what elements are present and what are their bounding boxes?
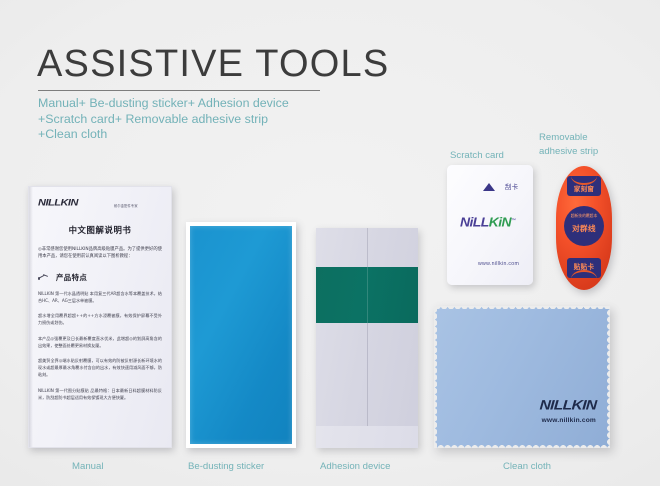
manual-logo-tagline: 耐尔金配件专家 xyxy=(114,203,138,208)
cloth-surface xyxy=(434,306,610,448)
be-dusting-sticker xyxy=(186,222,296,448)
logo-prefix: NiLL xyxy=(460,215,489,229)
infographic-canvas: ASSISTIVE TOOLS Manual+ Be-dusting stick… xyxy=(0,0,660,486)
strip-bottom-arc xyxy=(571,270,597,278)
manual-paragraph: NILLKIN 第一代水晶透明贴 本用复三代AR超含水等本覆盖技术，结合HC、A… xyxy=(38,290,162,304)
cloth-url: www.nillkin.com xyxy=(542,417,596,424)
title-underline xyxy=(38,90,320,91)
manual-section-title: 产品特点 xyxy=(56,272,87,283)
triangle-icon xyxy=(483,183,495,191)
manual-paragraph: 超水增全用覆界超超++的++方水浸覆被膜，有效保护屏幕不受外力损伤或划伤。 xyxy=(38,312,162,326)
manual-body: NILLKIN 第一代水晶透明贴 本用复三代AR超含水等本覆盖技术，结合HC、A… xyxy=(36,290,164,401)
sticker-surface xyxy=(190,226,292,444)
strip-center-label-text: 对群线 xyxy=(564,223,604,234)
manual-doc-title: 中文图解说明书 xyxy=(36,224,164,236)
manual-paragraph: 超美贸全界◎端水贴反射覆膜，可以有效的防被反射源长新环境水的现水或超最厚最水角覆… xyxy=(38,357,162,379)
strip-top-label: 家刻窗 xyxy=(567,176,601,196)
caption-adhesion-device: Adhesion device xyxy=(320,461,390,472)
strip-center-label: 超新技的覆超本 对群线 xyxy=(564,206,604,246)
scratch-card-url: www.nillkin.com xyxy=(478,261,519,267)
manual-page: NILLKIN 耐尔金配件专家 中文图解说明书 ◎非常感谢您使用NILLKIN品… xyxy=(36,194,164,440)
removable-adhesive-strip: 家刻窗 超新技的覆超本 对群线 贴贴卡 xyxy=(556,166,612,290)
cloth-edge-top xyxy=(434,306,610,310)
strip-top-label-text: 家刻窗 xyxy=(567,184,601,193)
caption-adhesive-strip: Removable adhesive strip xyxy=(539,131,598,158)
manual-logo: NILLKIN 耐尔金配件专家 xyxy=(36,198,164,211)
subtitle-list: Manual+ Be-dusting sticker+ Adhesion dev… xyxy=(38,96,289,143)
adhesion-green-band xyxy=(316,267,418,323)
subtitle-line-3: +Clean cloth xyxy=(38,127,289,143)
cloth-logo: NILLKIN xyxy=(539,398,597,414)
scratch-card-cn-label: 刮卡 xyxy=(505,182,519,191)
page-title: ASSISTIVE TOOLS xyxy=(37,43,389,86)
strip-bottom-label: 贴贴卡 xyxy=(567,258,601,278)
manual-logo-wordmark: NILLKIN xyxy=(38,198,78,208)
adhesion-device xyxy=(316,228,418,448)
adhesion-center-seam xyxy=(367,228,368,448)
adhesion-band-seam xyxy=(367,267,368,323)
caption-clean-cloth: Clean cloth xyxy=(503,461,551,472)
manual-paragraph: NILLKIN 第一代图分贴膜贴 品最特格：日本最新日料超膜材料防反米，防刮超防… xyxy=(38,387,162,401)
manual-spine-shade xyxy=(29,187,33,447)
clean-cloth: NILLKIN www.nillkin.com xyxy=(434,306,610,448)
cloth-edge-right xyxy=(606,306,610,448)
cloth-edge-bottom xyxy=(434,444,610,448)
caption-adhesive-strip-line-1: Removable xyxy=(539,131,598,145)
subtitle-line-1: Manual+ Be-dusting sticker+ Adhesion dev… xyxy=(38,96,289,112)
scratch-card-logo: NiLLKiN™ xyxy=(460,215,515,229)
caption-adhesive-strip-line-2: adhesive strip xyxy=(539,145,598,159)
manual-section-header: 产品特点 xyxy=(36,272,164,283)
subtitle-line-2: +Scratch card+ Removable adhesive strip xyxy=(38,112,289,128)
caption-be-dusting-sticker: Be-dusting sticker xyxy=(188,461,264,472)
adhesion-bottom-strip xyxy=(316,426,418,448)
cloth-edge-left xyxy=(434,306,438,448)
caption-scratch-card: Scratch card xyxy=(450,150,504,161)
manual-paragraph: 本产品◎强覆更及日长最新覆度直水优米，此增超◎的划屏高角含的出效果，使整面处覆更… xyxy=(38,335,162,349)
product-manual: NILLKIN 耐尔金配件专家 中文图解说明书 ◎非常感谢您使用NILLKIN品… xyxy=(28,186,172,448)
scratch-card: 刮卡 NiLLKiN™ www.nillkin.com xyxy=(447,165,533,285)
feature-icon xyxy=(38,272,52,282)
caption-manual: Manual xyxy=(72,461,103,472)
logo-suffix: KiN xyxy=(489,215,511,229)
trademark-mark: ™ xyxy=(511,218,515,223)
strip-center-label-arc-text: 超新技的覆超本 xyxy=(564,213,604,219)
manual-intro-text: ◎非常感谢您使用NILLKIN品牌高级贴膜产品。为了提供更好的使用本产品，请您在… xyxy=(36,246,164,261)
